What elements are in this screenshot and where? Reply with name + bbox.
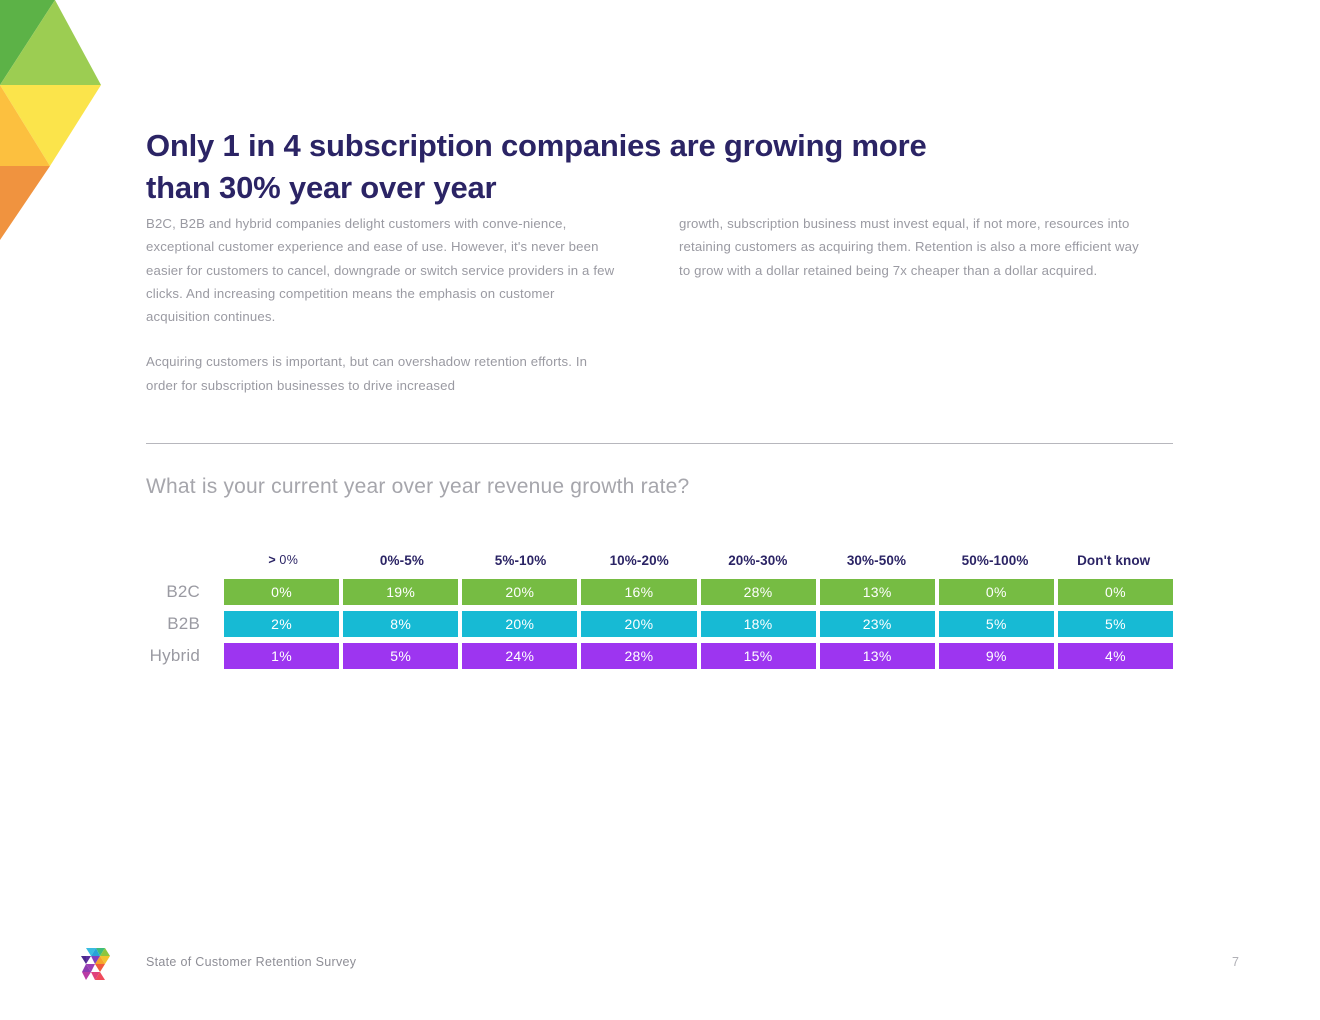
page-title: Only 1 in 4 subscription companies are g… [146, 125, 1046, 209]
page-number: 7 [1232, 955, 1239, 969]
chart-cell: 15% [701, 643, 816, 669]
chart-cell: 20% [462, 579, 577, 605]
chart-cell: 2% [224, 611, 339, 637]
shape-green-dark [0, 0, 55, 85]
chart-cell: 0% [224, 579, 339, 605]
shape-green-light [0, 0, 101, 85]
chart-cell: 1% [224, 643, 339, 669]
chart-column-header: 30%-50% [817, 547, 936, 573]
shape-amber [0, 85, 50, 166]
chart-cell: 13% [820, 579, 935, 605]
chart-question-title: What is your current year over year reve… [146, 475, 689, 499]
chart-column-header: 0%-5% [343, 547, 462, 573]
chart-row: B2C0%19%20%16%28%13%0%0% [146, 579, 1173, 605]
chart-row: B2B2%8%20%20%18%23%5%5% [146, 611, 1173, 637]
chart-cell: 18% [701, 611, 816, 637]
body-paragraph: growth, subscription business must inves… [679, 212, 1149, 282]
chart-cell: 24% [462, 643, 577, 669]
chart-cell: 5% [1058, 611, 1173, 637]
footer-label: State of Customer Retention Survey [146, 955, 356, 969]
section-divider [146, 443, 1173, 444]
chart-column-header: 20%-30% [699, 547, 818, 573]
chart-cell: 16% [581, 579, 696, 605]
chart-row: Hybrid1%5%24%28%15%13%9%4% [146, 643, 1173, 669]
chart-cell: 8% [343, 611, 458, 637]
brand-logo-icon [74, 944, 114, 984]
chart-row-label: Hybrid [146, 643, 224, 669]
chart-cell: 23% [820, 611, 935, 637]
chart-header-row: > 0% 0%-5% 5%-10% 10%-20% 20%-30% 30%-50… [146, 547, 1173, 573]
chart-row-label: B2C [146, 579, 224, 605]
chart-cell: 5% [343, 643, 458, 669]
shape-orange [0, 166, 50, 240]
chart-cell: 4% [1058, 643, 1173, 669]
chart-table: > 0% 0%-5% 5%-10% 10%-20% 20%-30% 30%-50… [146, 547, 1173, 669]
chart-cell: 0% [1058, 579, 1173, 605]
chart-cell: 28% [701, 579, 816, 605]
chart-cell: 5% [939, 611, 1054, 637]
page-title-line-1: Only 1 in 4 subscription companies are g… [146, 125, 1046, 167]
chart-cell: 19% [343, 579, 458, 605]
corner-decoration [0, 0, 110, 240]
body-paragraph: B2C, B2B and hybrid companies delight cu… [146, 212, 616, 328]
chart-cell: 0% [939, 579, 1054, 605]
body-column-right: growth, subscription business must inves… [679, 212, 1149, 282]
chart-cell: 20% [462, 611, 577, 637]
chart-column-header: 5%-10% [461, 547, 580, 573]
body-paragraph: Acquiring customers is important, but ca… [146, 350, 616, 397]
page-title-line-2: than 30% year over year [146, 167, 1046, 209]
chart-cell: 20% [581, 611, 696, 637]
body-column-left: B2C, B2B and hybrid companies delight cu… [146, 212, 616, 397]
chart-cell: 13% [820, 643, 935, 669]
chart-cell: 28% [581, 643, 696, 669]
chart-column-header: > 0% [224, 547, 343, 573]
chart-header-corner [146, 547, 224, 573]
chart-row-label: B2B [146, 611, 224, 637]
chart-column-header: 50%-100% [936, 547, 1055, 573]
chart-column-header: 10%-20% [580, 547, 699, 573]
chart-body: B2C0%19%20%16%28%13%0%0%B2B2%8%20%20%18%… [146, 579, 1173, 669]
chart-cell: 9% [939, 643, 1054, 669]
shape-yellow [0, 85, 101, 166]
chart-column-header: Don't know [1054, 547, 1173, 573]
